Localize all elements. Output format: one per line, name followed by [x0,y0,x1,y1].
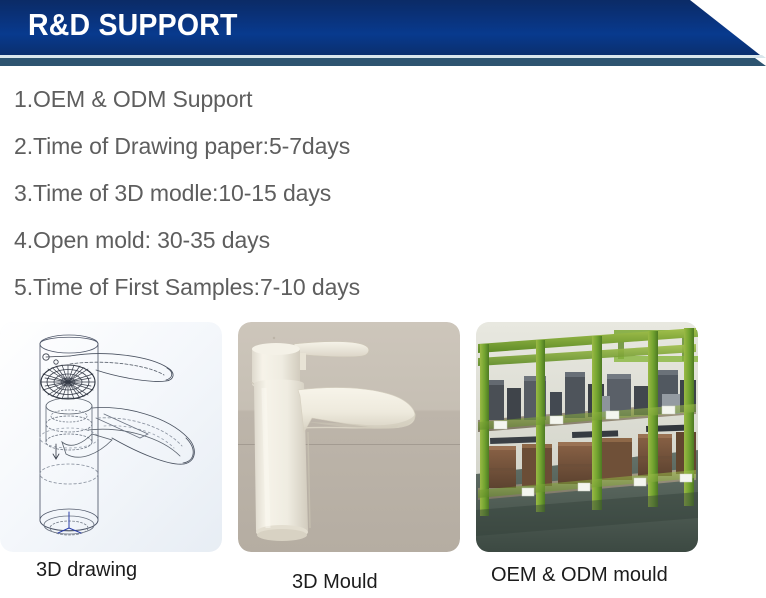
page-header: R&D SUPPORT [0,0,766,66]
gallery-captions: 3D drawing 3D Mould OEM & ODM mould [0,552,766,598]
header-slate-bar [0,58,766,66]
support-list-item-5: 5.Time of First Samples:7-10 days [0,264,740,311]
gallery-card-3d-drawing [0,322,222,552]
page-title: R&D SUPPORT [28,7,238,43]
support-list-item-3: 3.Time of 3D modle:10-15 days [0,170,740,217]
caption-3d-mould: 3D Mould [292,571,378,594]
caption-oem-odm-mould: OEM & ODM mould [491,564,668,587]
support-list-item-2: 2.Time of Drawing paper:5-7days [0,123,740,170]
gallery-card-3d-mould [238,322,460,552]
header-hairline-divider [0,55,766,58]
green-shelving-mould-warehouse-image [476,322,698,552]
caption-3d-drawing: 3D drawing [36,559,137,582]
gallery [0,322,766,552]
support-list: 1.OEM & ODM Support 2.Time of Drawing pa… [0,76,740,311]
cad-wireframe-faucet-image [0,322,222,552]
gallery-card-oem-odm-mould [476,322,698,552]
support-list-item-1: 1.OEM & ODM Support [0,76,740,123]
support-list-item-4: 4.Open mold: 30-35 days [0,217,740,264]
white-prototype-faucet-image [238,322,460,552]
